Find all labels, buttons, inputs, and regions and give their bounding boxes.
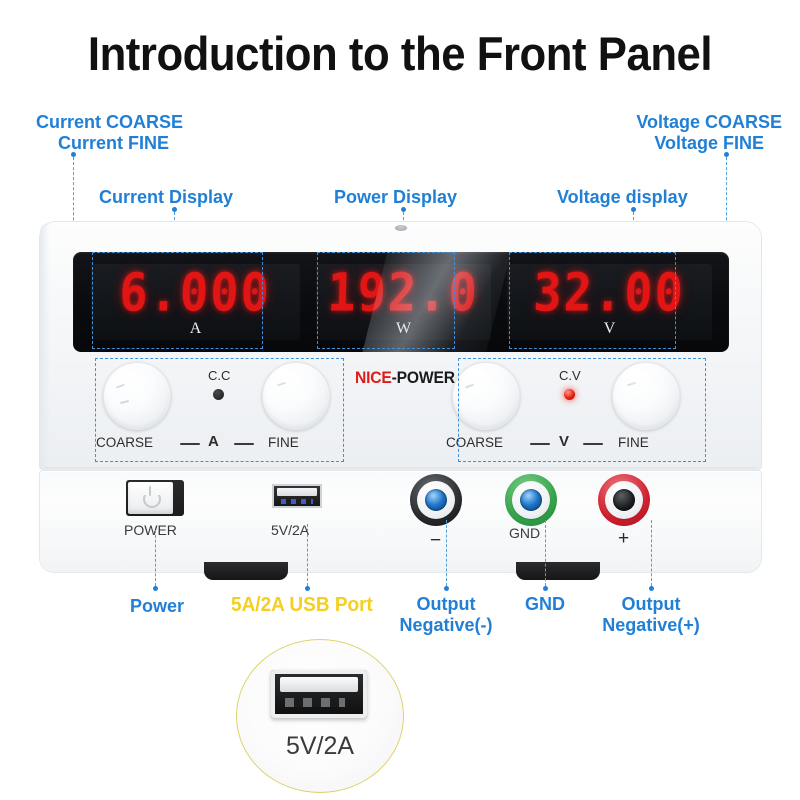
annotation-voltage-coarse-line1: Voltage COARSE <box>636 112 782 132</box>
leader-dot-power <box>153 586 158 591</box>
brand-logo-power: -POWER <box>392 368 455 387</box>
terminal-ground[interactable] <box>505 474 557 526</box>
leader-line-gnd <box>545 520 546 586</box>
page-title: Introduction to the Front Panel <box>28 26 772 81</box>
leader-line-usb <box>307 524 308 586</box>
terminal-ground-label: GND <box>509 525 540 541</box>
usb-port-label: 5V/2A <box>271 522 309 538</box>
power-switch-label: POWER <box>124 522 177 538</box>
annotation-output-negative-line1: Output <box>417 594 476 614</box>
usb-magnified-tongue <box>280 677 358 692</box>
leader-dot-output-positive <box>649 586 654 591</box>
leader-line-power <box>155 530 156 586</box>
brand-logo: NICE-POWER <box>355 368 455 388</box>
rubber-foot-left <box>204 562 288 580</box>
power-icon <box>143 490 161 508</box>
usb-magnified-label: 5V/2A <box>237 732 403 761</box>
terminal-ground-socket <box>520 489 542 511</box>
annotation-power: Power <box>130 596 184 617</box>
annotation-voltage-coarse: Voltage COARSE Voltage FINE <box>636 112 782 154</box>
highlight-box-power-display <box>317 252 455 349</box>
annotation-voltage-display: Voltage display <box>557 187 688 208</box>
highlight-box-voltage-knobs <box>458 358 706 462</box>
power-switch[interactable] <box>126 480 184 516</box>
annotation-output-negative: Output Negative(-) <box>399 594 492 636</box>
highlight-box-current-knobs <box>95 358 344 462</box>
usb-pins <box>281 499 313 504</box>
leader-line-output-positive <box>651 520 652 586</box>
annotation-usb-port: 5A/2A USB Port <box>231 594 373 617</box>
terminal-negative-socket <box>425 489 447 511</box>
usb-tongue <box>277 488 317 496</box>
terminal-positive-sign: + <box>618 528 629 550</box>
leader-dot-usb <box>305 586 310 591</box>
usb-port[interactable] <box>272 484 322 508</box>
annotation-current-display: Current Display <box>99 187 233 208</box>
usb-magnified-port <box>271 670 367 718</box>
annotation-current-coarse: Current COARSE Current FINE <box>36 112 183 154</box>
terminal-negative-sign: − <box>430 530 441 552</box>
leader-dot-gnd <box>543 586 548 591</box>
annotation-gnd: GND <box>525 594 565 615</box>
leader-line-output-negative <box>446 520 447 586</box>
annotation-current-coarse-line1: Current COARSE <box>36 112 183 132</box>
rubber-foot-right <box>516 562 600 580</box>
top-screw <box>395 225 407 231</box>
annotation-output-negative-line2: Negative(-) <box>399 615 492 635</box>
usb-magnifier: 5V/2A <box>236 639 404 793</box>
highlight-box-current-display <box>92 252 263 349</box>
power-icon-bar <box>149 486 151 496</box>
usb-magnified-pins <box>285 698 345 707</box>
annotation-output-positive: Output Negative(+) <box>602 594 700 636</box>
annotation-voltage-fine-line2: Voltage FINE <box>654 133 764 154</box>
leader-dot-output-negative <box>444 586 449 591</box>
annotation-output-positive-line1: Output <box>622 594 681 614</box>
terminal-positive-socket <box>613 489 635 511</box>
annotation-power-display: Power Display <box>334 187 457 208</box>
brand-logo-nice: NICE <box>355 368 392 387</box>
power-switch-cap <box>128 482 173 514</box>
terminal-positive[interactable] <box>598 474 650 526</box>
annotation-output-positive-line2: Negative(+) <box>602 615 700 635</box>
screenshot-root: Introduction to the Front Panel Current … <box>0 0 800 800</box>
highlight-box-voltage-display <box>509 252 676 349</box>
terminal-negative[interactable] <box>410 474 462 526</box>
